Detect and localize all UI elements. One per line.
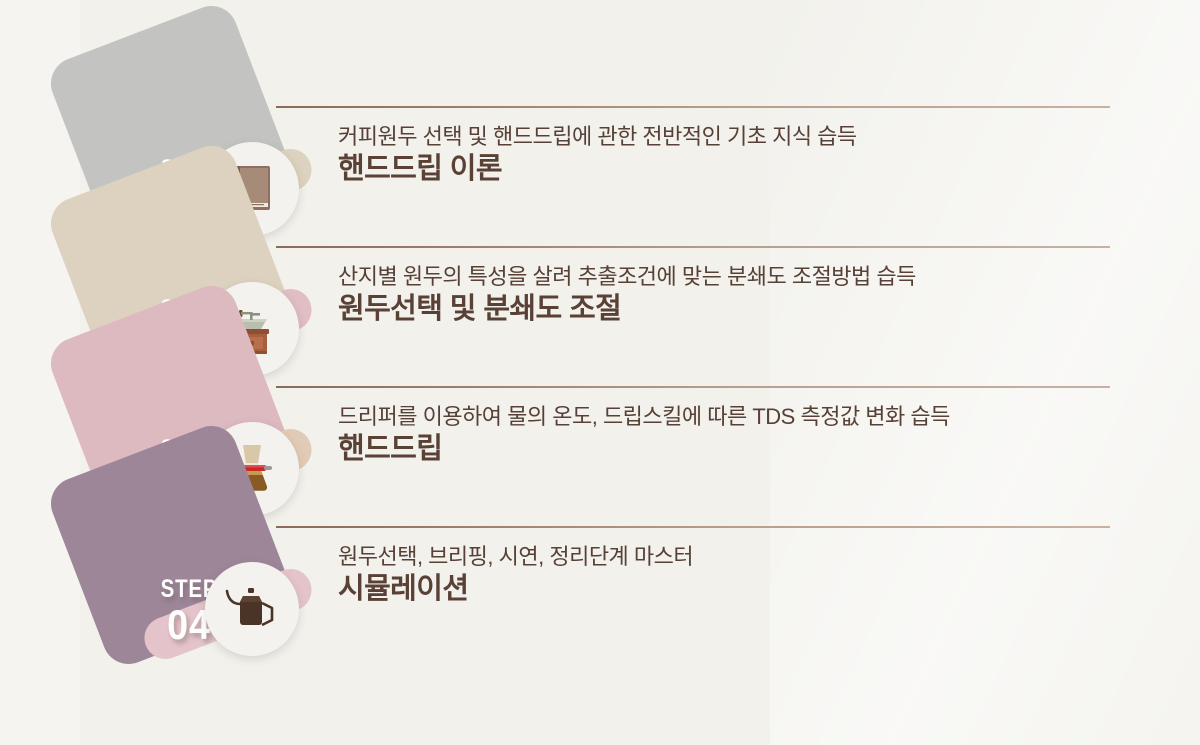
step-description-3: 드리퍼를 이용하여 물의 온도, 드립스킬에 따른 TDS 측정값 변화 습득	[338, 399, 950, 431]
step-title-2: 원두선택 및 분쇄도 조절	[338, 293, 1128, 326]
infographic-canvas: STEP 01 핸드드립 이론 커피원두 선택 및 핸드드립	[0, 0, 1200, 745]
step-title-4: 시뮬레이션	[338, 573, 1128, 606]
step-divider-1	[276, 106, 1110, 108]
step-title-3: 핸드드립	[338, 433, 1128, 466]
step-description-2: 산지별 원두의 특성을 살려 추출조건에 맞는 분쇄도 조절방법 습득	[338, 259, 916, 291]
step-description-4: 원두선택, 브리핑, 시연, 정리단계 마스터	[338, 539, 693, 571]
step-row-4[interactable]: STEP 04 시뮬레이션 원두선택, 브리핑, 시연, 정리단계 마스터	[0, 465, 1200, 625]
step-title-1: 핸드드립 이론	[338, 153, 1128, 186]
step-divider-3	[276, 386, 1110, 388]
step-description-1: 커피원두 선택 및 핸드드립에 관한 전반적인 기초 지식 습득	[338, 119, 857, 151]
step-divider-2	[276, 246, 1110, 248]
step-divider-4	[276, 526, 1110, 528]
